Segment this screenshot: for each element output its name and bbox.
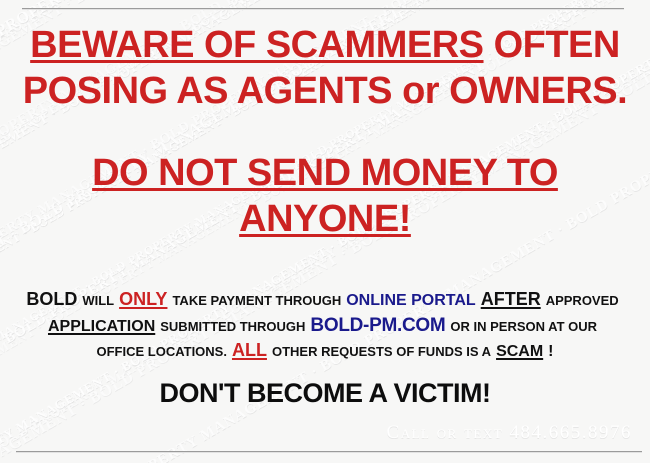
body-emphasis-only: ONLY bbox=[119, 289, 167, 309]
footer-victim-line: DON'T BECOME A VICTIM! bbox=[0, 380, 650, 407]
warning-line-1-text: DO NOT SEND MONEY TO bbox=[92, 152, 558, 194]
body-emphasis-all: ALL bbox=[232, 340, 267, 360]
body-line-3: OFFICE LOCATIONS.ALLOTHER REQUESTS OF FU… bbox=[0, 341, 650, 360]
headline-line-1: BEWARE OF SCAMMERS OFTEN bbox=[0, 26, 650, 64]
body-emphasis-application: APPLICATION bbox=[48, 318, 155, 335]
body-take-payment-through: TAKE PAYMENT THROUGH bbox=[172, 293, 341, 308]
body-emphasis-after: AFTER bbox=[481, 289, 541, 309]
body-scam-exclamation: ! bbox=[548, 343, 553, 360]
body-line-1: BOLDWILLONLYTAKE PAYMENT THROUGHONLINE P… bbox=[0, 290, 650, 309]
body-other-requests: OTHER REQUESTS OF FUNDS IS A bbox=[272, 344, 491, 359]
warning-line-2-text: ANYONE! bbox=[239, 198, 411, 240]
body-or-in-person: OR IN PERSON AT OUR bbox=[450, 319, 597, 334]
headline-line-1-rest: OFTEN bbox=[484, 24, 620, 66]
body-website-bold-pm-com[interactable]: BOLD-PM.COM bbox=[310, 315, 445, 336]
headline-line-2: POSING AS AGENTS or OWNERS. bbox=[0, 72, 650, 110]
footer-call-or-text: Call or text 484.665.8976 bbox=[387, 422, 632, 444]
body-online-portal: ONLINE PORTAL bbox=[346, 292, 475, 309]
body-brand-bold: BOLD bbox=[26, 289, 77, 309]
body-line-2: APPLICATIONSUBMITTED THROUGHBOLD-PM.COMO… bbox=[0, 316, 650, 335]
body-approved: APPROVED bbox=[546, 293, 619, 308]
body-submitted-through: SUBMITTED THROUGH bbox=[160, 319, 305, 334]
warning-line-2: ANYONE! bbox=[0, 200, 650, 238]
scam-warning-poster: BOLD PROPERTY MANAGEMENT · BOLD PROPERTY… bbox=[0, 0, 650, 463]
headline-emphasis-beware-of-scammers: BEWARE OF SCAMMERS bbox=[30, 24, 483, 66]
body-office-locations: OFFICE LOCATIONS. bbox=[96, 344, 226, 359]
body-emphasis-scam: SCAM bbox=[496, 343, 543, 360]
warning-line-1: DO NOT SEND MONEY TO bbox=[0, 154, 650, 192]
body-will: WILL bbox=[82, 293, 114, 308]
poster-content: BEWARE OF SCAMMERS OFTEN POSING AS AGENT… bbox=[0, 0, 650, 463]
